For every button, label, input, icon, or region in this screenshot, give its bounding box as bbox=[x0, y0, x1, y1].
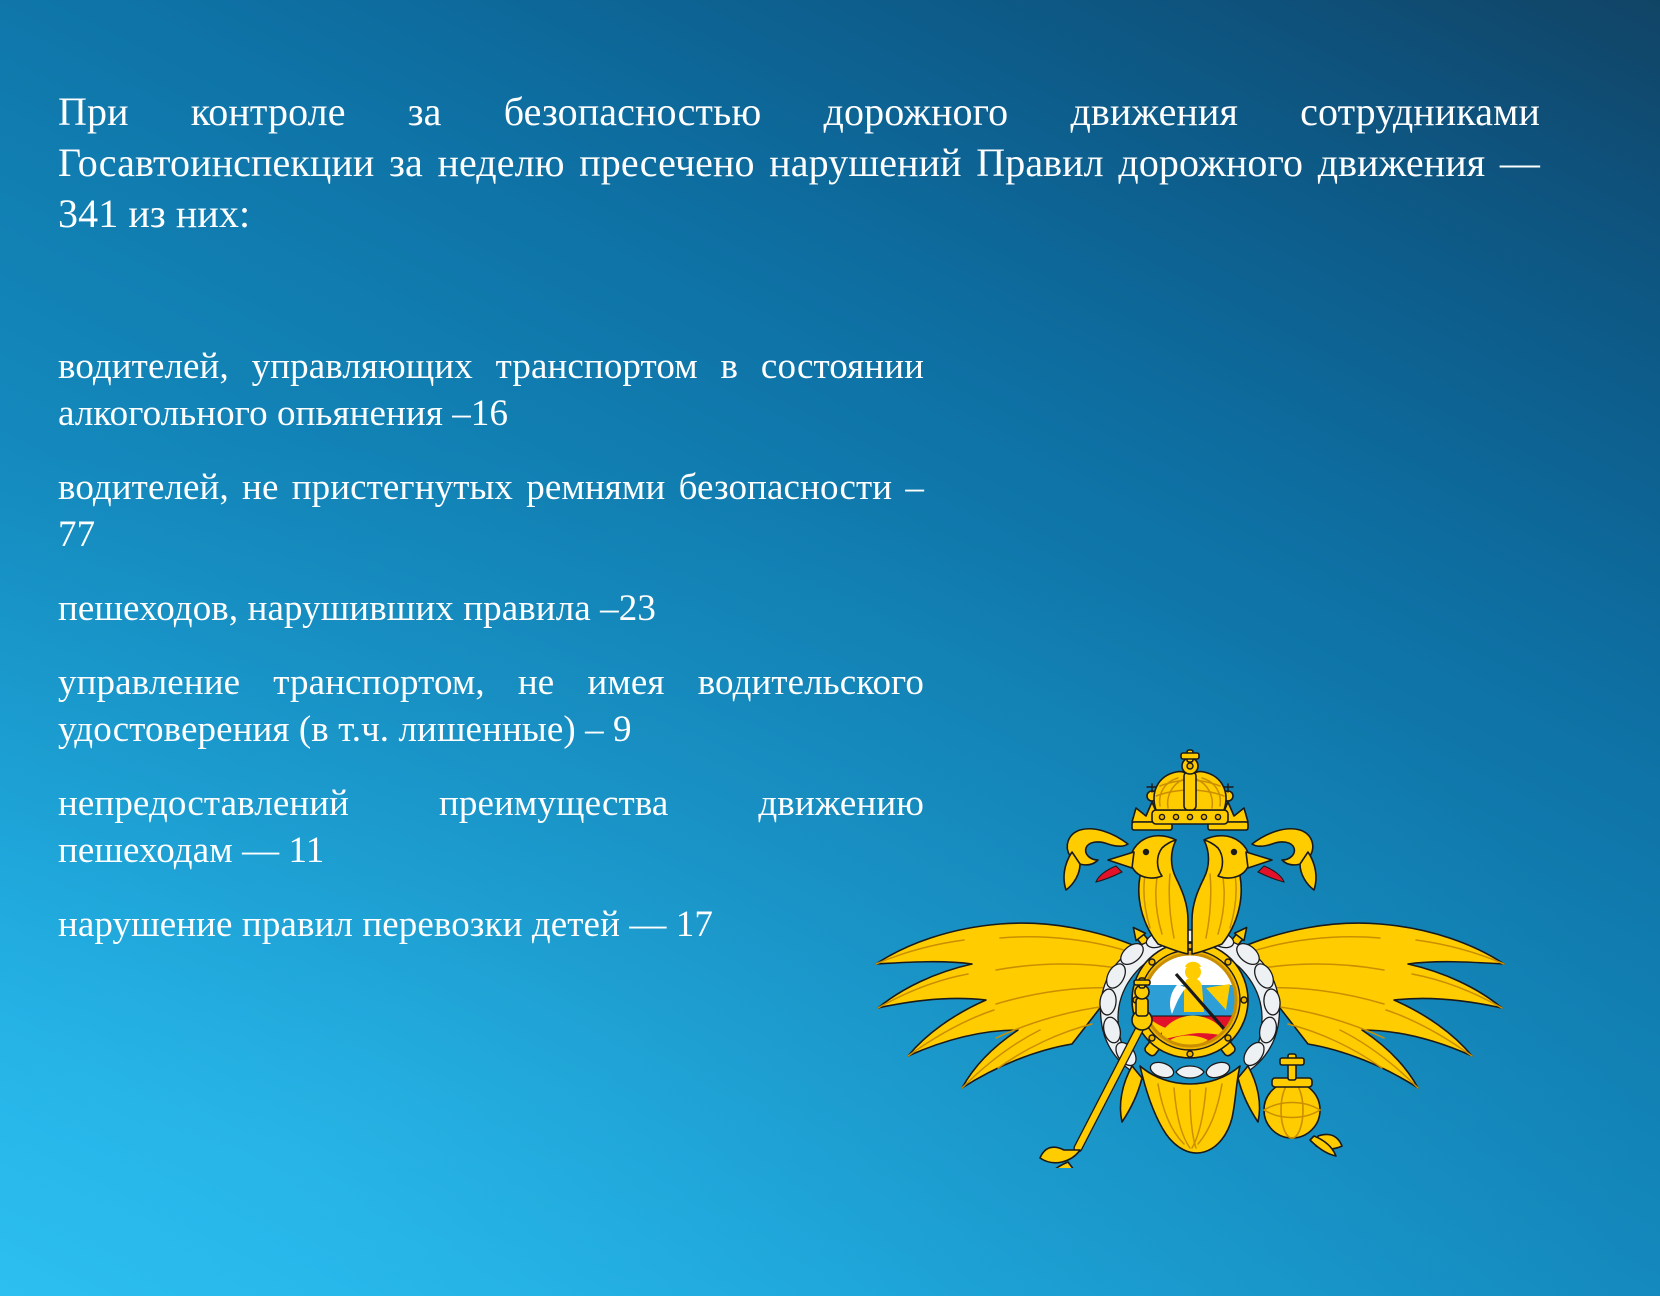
list-item: водителей, не пристегнутых ремнями безоп… bbox=[58, 465, 924, 559]
list-item: водителей, управляющих транспортом в сос… bbox=[58, 344, 924, 438]
list-item: нарушение правил перевозки детей — 17 bbox=[58, 902, 924, 949]
slide-canvas: При контроле за безопасностью дорожного … bbox=[0, 0, 1660, 1296]
list-item: пешеходов, нарушивших правила –23 bbox=[58, 586, 924, 633]
page-title: При контроле за безопасностью дорожного … bbox=[58, 86, 1540, 240]
mvd-emblem-icon: .g { fill:#FFCC00; stroke:#1a1a1a; strok… bbox=[840, 748, 1540, 1168]
saint-george-medallion bbox=[1132, 942, 1248, 1058]
orb-icon bbox=[1264, 1054, 1342, 1156]
eagle-tail bbox=[1120, 1066, 1259, 1153]
list-item: непредоставлений преимущества движению п… bbox=[58, 781, 924, 875]
list-item: управление транспортом, не имея водитель… bbox=[58, 660, 924, 754]
violations-list: водителей, управляющих транспортом в сос… bbox=[58, 344, 924, 949]
imperial-crown-icon bbox=[1152, 750, 1228, 824]
